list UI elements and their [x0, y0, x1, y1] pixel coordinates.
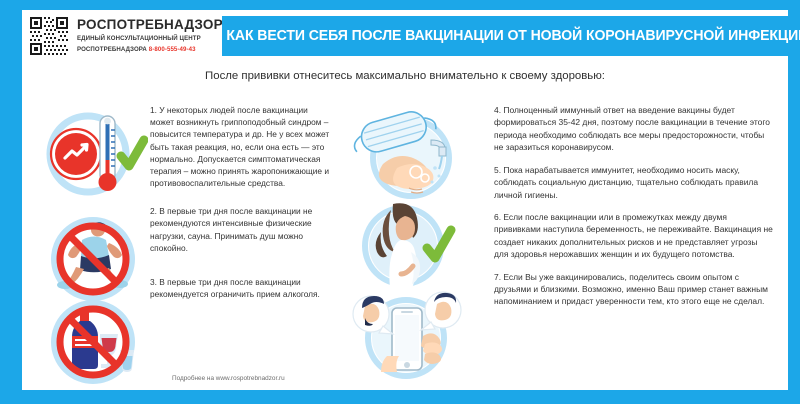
logo-block: РОСПОТРЕБНАДЗОР ЕДИНЫЙ КОНСУЛЬТАЦИОННЫЙ … [22, 10, 222, 62]
hotline-phone-number: 8-800-555-49-43 [149, 46, 196, 53]
left-text-column: 1. У некоторых людей после вакцинации мо… [150, 88, 330, 390]
consultation-phone-prefix: РОСПОТРЕБНАДЗОРА [77, 46, 147, 53]
consultation-center-line: ЕДИНЫЙ КОНСУЛЬТАЦИОННЫЙ ЦЕНТР [77, 34, 223, 43]
poster-sheet: РОСПОТРЕБНАДЗОР ЕДИНЫЙ КОНСУЛЬТАЦИОННЫЙ … [22, 10, 788, 390]
page-title: КАК ВЕСТИ СЕБЯ ПОСЛЕ ВАКЦИНАЦИИ ОТ НОВОЙ… [226, 28, 800, 44]
title-banner: КАК ВЕСТИ СЕБЯ ПОСЛЕ ВАКЦИНАЦИИ ОТ НОВОЙ… [222, 16, 800, 56]
left-item-1: 1. У некоторых людей после вакцинации мо… [150, 104, 330, 189]
middle-illustration-column [330, 88, 480, 390]
left-item-3: 3. В первые три дня после вакцинации рек… [150, 276, 330, 300]
thermometer-fever-icon [36, 104, 148, 208]
left-item-2: 2. В первые три дня после вакцинации не … [150, 205, 330, 254]
logo-text-block: РОСПОТРЕБНАДЗОР ЕДИНЫЙ КОНСУЛЬТАЦИОННЫЙ … [77, 18, 223, 54]
left-illustration-column [22, 88, 150, 390]
subtitle: После прививки отнеситесь максимально вн… [22, 65, 788, 87]
right-item-7: 7. Если Вы уже вакцинировались, поделите… [494, 271, 774, 308]
share-experience-phone-icon [335, 284, 477, 384]
no-exercise-icon [42, 216, 144, 302]
consultation-phone-line: РОСПОТРЕБНАДЗОРА 8-800-555-49-43 [77, 45, 223, 54]
right-text-column: 4. Полноценный иммунный ответ на введени… [480, 88, 788, 390]
infographic-poster: РОСПОТРЕБНАДЗОР ЕДИНЫЙ КОНСУЛЬТАЦИОННЫЙ … [0, 0, 800, 404]
mask-handwashing-icon [335, 106, 477, 206]
brand-name: РОСПОТРЕБНАДЗОР [77, 18, 223, 32]
footnote-url: Подробнее на www.rospotrebnadzor.ru [172, 375, 285, 382]
poster-header: РОСПОТРЕБНАДЗОР ЕДИНЫЙ КОНСУЛЬТАЦИОННЫЙ … [22, 10, 788, 62]
right-item-6: 6. Если после вакцинации или в промежутк… [494, 211, 774, 261]
right-item-4: 4. Полноценный иммунный ответ на введени… [494, 104, 774, 154]
qr-code-icon [28, 15, 70, 57]
pregnant-woman-icon [335, 196, 477, 292]
content-area: 1. У некоторых людей после вакцинации мо… [22, 88, 788, 390]
no-alcohol-icon [42, 298, 144, 386]
right-item-5: 5. Пока нарабатывается иммунитет, необхо… [494, 164, 774, 201]
